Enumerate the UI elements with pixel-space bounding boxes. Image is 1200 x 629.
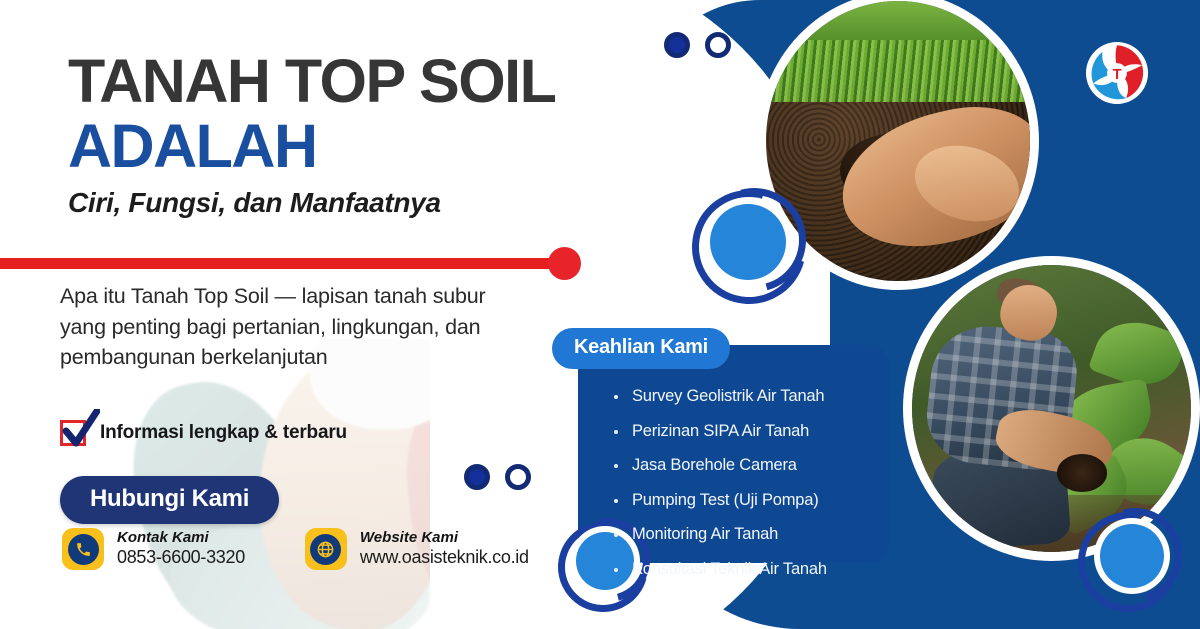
ring-dot-filled bbox=[664, 32, 690, 58]
headline-subtitle: Ciri, Fungsi, dan Manfaatnya bbox=[68, 187, 555, 219]
red-divider-line bbox=[0, 258, 560, 269]
services-tab-label: Keahlian Kami bbox=[552, 328, 730, 369]
list-item: Perizinan SIPA Air Tanah bbox=[612, 423, 827, 440]
ring-dot-hollow bbox=[705, 32, 731, 58]
promo-banner: T TANAH TOP SOIL ADALAH Ciri, Fungsi, da… bbox=[0, 0, 1200, 629]
ring-circle-decoration bbox=[1078, 508, 1186, 616]
contact-details: Kontak Kami 0853-6600-3320 Website Kami bbox=[62, 528, 529, 570]
intro-paragraph: Apa itu Tanah Top Soil — lapisan tanah s… bbox=[60, 281, 530, 373]
headline-block: TANAH TOP SOIL ADALAH Ciri, Fungsi, dan … bbox=[68, 52, 555, 219]
ring-dot-filled bbox=[464, 464, 490, 490]
list-item: Konsultasi Teknik Air Tanah bbox=[612, 561, 827, 578]
contact-phone[interactable]: Kontak Kami 0853-6600-3320 bbox=[62, 528, 245, 570]
checkmark-icon bbox=[60, 420, 86, 446]
headline-line-2: ADALAH bbox=[68, 117, 555, 176]
info-check-text: Informasi lengkap & terbaru bbox=[100, 422, 347, 444]
contact-website-label: Website Kami bbox=[360, 529, 529, 547]
info-check-line: Informasi lengkap & terbaru bbox=[60, 420, 347, 446]
contact-phone-label: Kontak Kami bbox=[117, 529, 245, 547]
phone-icon bbox=[62, 528, 104, 570]
list-item: Pumping Test (Uji Pompa) bbox=[612, 492, 827, 509]
headline-line-1: TANAH TOP SOIL bbox=[68, 52, 555, 111]
list-item: Jasa Borehole Camera bbox=[612, 457, 827, 474]
oasis-teknik-logo-icon: T bbox=[1084, 40, 1150, 106]
services-list: Survey Geolistrik Air Tanah Perizinan SI… bbox=[612, 388, 827, 595]
ring-dot-hollow bbox=[505, 464, 531, 490]
list-item: Survey Geolistrik Air Tanah bbox=[612, 388, 827, 405]
contact-website[interactable]: Website Kami www.oasisteknik.co.id bbox=[305, 528, 529, 570]
red-divider-dot bbox=[548, 247, 581, 280]
contact-website-value: www.oasisteknik.co.id bbox=[360, 547, 529, 569]
globe-icon bbox=[305, 528, 347, 570]
list-item: Monitoring Air Tanah bbox=[612, 526, 827, 543]
contact-us-button[interactable]: Hubungi Kami bbox=[60, 476, 279, 524]
ring-circle-decoration bbox=[690, 188, 808, 306]
svg-text:T: T bbox=[1113, 67, 1122, 83]
contact-phone-value: 0853-6600-3320 bbox=[117, 547, 245, 569]
